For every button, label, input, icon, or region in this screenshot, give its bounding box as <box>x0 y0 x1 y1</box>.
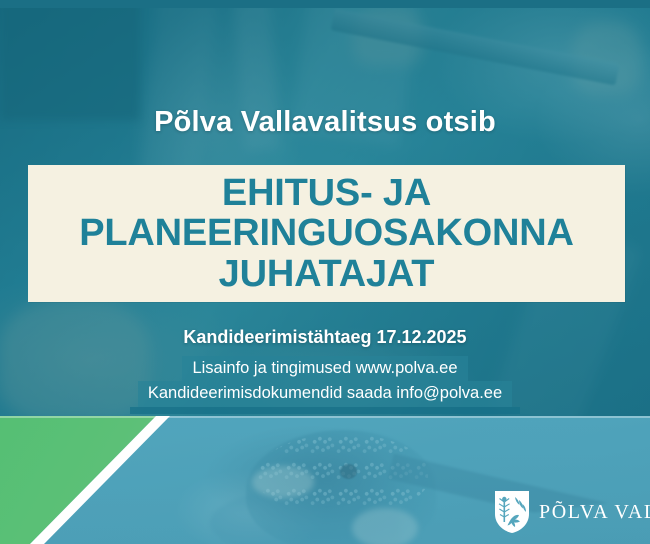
job-title-line-3: JUHATAJAT <box>28 254 625 295</box>
job-advert-poster: Põlva Vallavalitsus otsib EHITUS- JA PLA… <box>0 0 650 544</box>
section-divider <box>0 416 650 418</box>
info-line-website: Lisainfo ja tingimused www.polva.ee <box>182 356 467 381</box>
polva-vald-logo: PÕLVA VALD <box>494 490 650 534</box>
job-title-box: EHITUS- JA PLANEERINGUOSAKONNA JUHATAJAT <box>28 165 625 302</box>
application-deadline: Kandideerimistähtaeg 17.12.2025 <box>0 327 650 348</box>
top-edge-bar <box>0 0 650 8</box>
page-title: Põlva Vallavalitsus otsib <box>0 106 650 139</box>
contact-info-block: Lisainfo ja tingimused www.polva.ee Kand… <box>0 356 650 407</box>
job-title-line-2: PLANEERINGUOSAKONNA <box>28 213 625 254</box>
polva-coat-of-arms-icon <box>494 490 530 534</box>
info-line-email: Kandideerimisdokumendid saada info@polva… <box>138 381 512 406</box>
logo-text: PÕLVA VALD <box>539 501 650 524</box>
job-title-line-1: EHITUS- JA <box>28 173 625 214</box>
top-left-shade <box>0 0 140 120</box>
job-title-text: EHITUS- JA PLANEERINGUOSAKONNA JUHATAJAT <box>28 173 625 295</box>
accent-bar <box>130 407 520 414</box>
